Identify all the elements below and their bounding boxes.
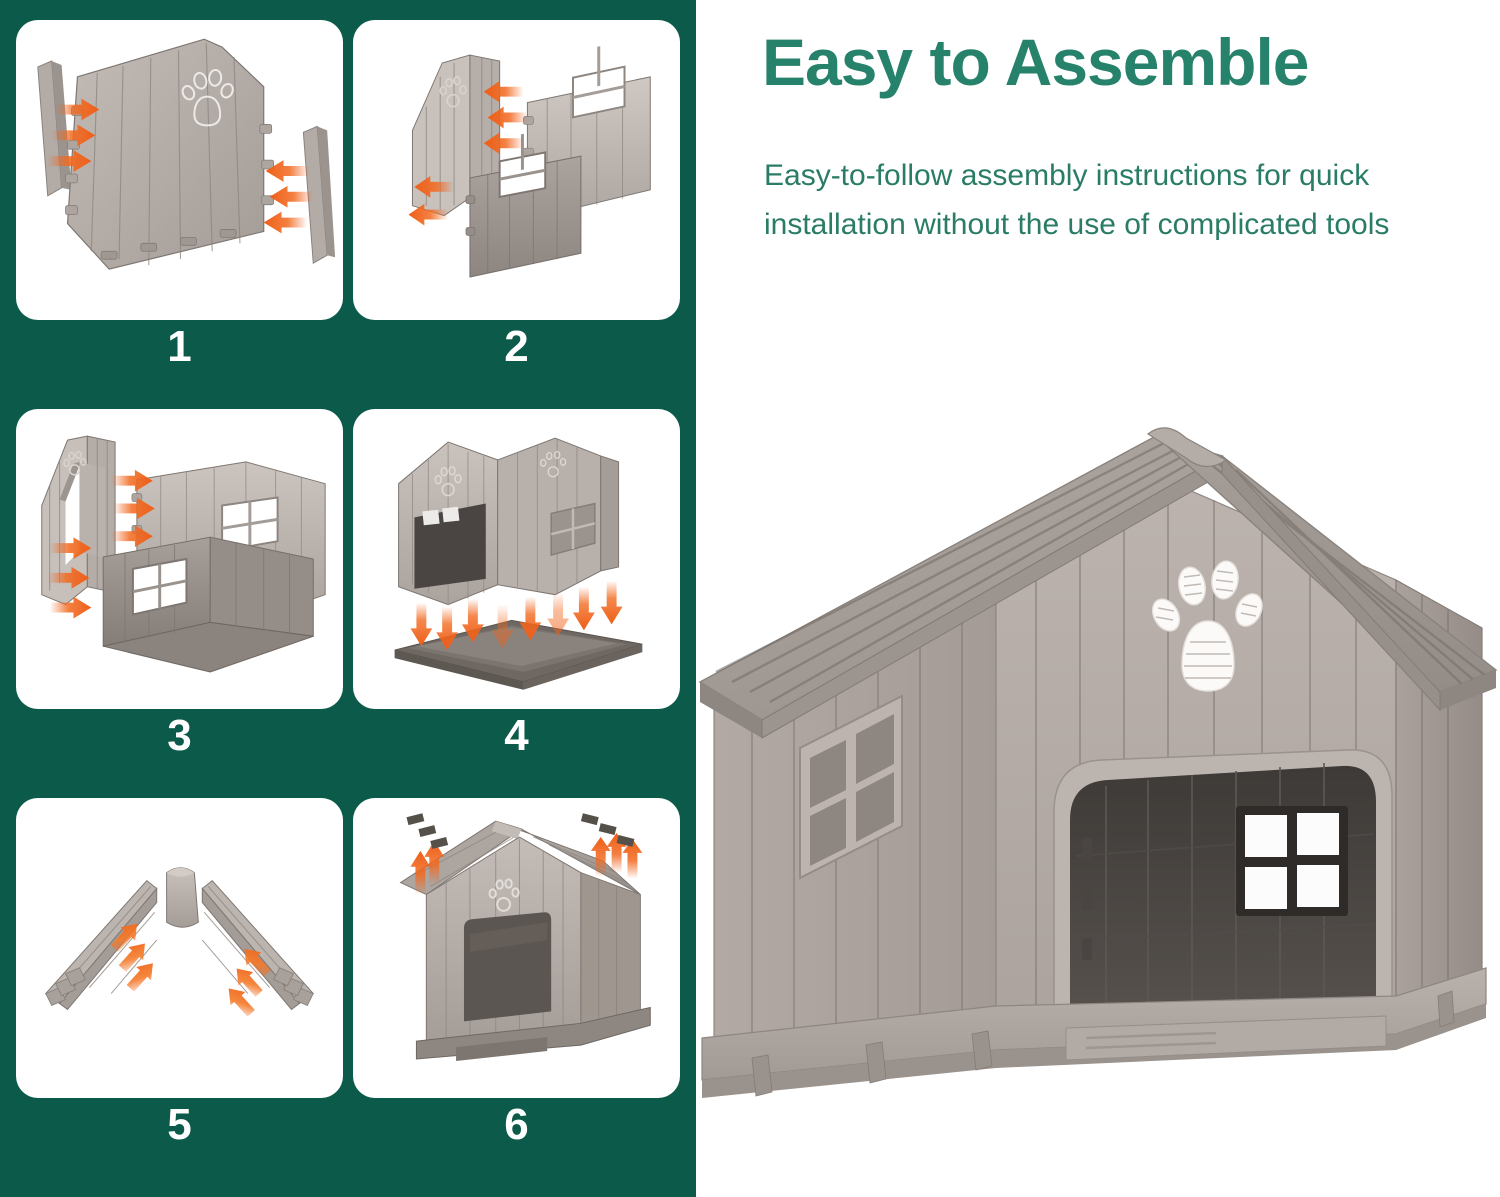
- step-5-illustration: [16, 798, 343, 1098]
- step-number-4: 4: [353, 709, 680, 794]
- step-card-3: [16, 409, 343, 709]
- step-3-illustration: [16, 409, 343, 709]
- step-1-illustration: [16, 20, 343, 320]
- hero-product-image: [696, 420, 1500, 1180]
- step-number-1: 1: [16, 320, 343, 405]
- assembly-steps-panel: 1: [0, 0, 696, 1197]
- step-number-2: 2: [353, 320, 680, 405]
- step-cell-6: 6: [353, 798, 680, 1183]
- step-number-3: 3: [16, 709, 343, 794]
- step-card-6: [353, 798, 680, 1098]
- step-card-2: [353, 20, 680, 320]
- step-cell-4: 4: [353, 409, 680, 794]
- step-card-5: [16, 798, 343, 1098]
- step-6-illustration: [353, 798, 680, 1098]
- step-number-5: 5: [16, 1098, 343, 1183]
- step-4-illustration: [353, 409, 680, 709]
- step-card-1: [16, 20, 343, 320]
- page-subtitle: Easy-to-follow assembly instructions for…: [764, 152, 1474, 249]
- step-card-4: [353, 409, 680, 709]
- side-wall-part: [498, 438, 619, 595]
- low-wall-box-part: [103, 537, 313, 672]
- page-title: Easy to Assemble: [762, 28, 1492, 97]
- assembly-arrows-left: [264, 160, 314, 233]
- step-cell-1: 1: [16, 20, 343, 405]
- step-cell-3: 3: [16, 409, 343, 794]
- window-frame: [573, 46, 625, 117]
- gable-wall-panel-part: [66, 39, 274, 269]
- doorway-opening: [1054, 750, 1392, 1018]
- ridge-cap-part: [167, 868, 199, 927]
- side-wall-part: [581, 873, 640, 1028]
- step-2-illustration: [353, 20, 680, 320]
- step-number-6: 6: [353, 1098, 680, 1183]
- front-gable-wall-part: [399, 442, 498, 605]
- right-content-area: Easy to Assemble Easy-to-follow assembly…: [696, 0, 1500, 1197]
- floor-base-tray-part: [395, 620, 643, 689]
- infographic-root: 1: [0, 0, 1500, 1197]
- interior-window: [1236, 806, 1348, 916]
- step-cell-2: 2: [353, 20, 680, 405]
- step-cell-5: 5: [16, 798, 343, 1183]
